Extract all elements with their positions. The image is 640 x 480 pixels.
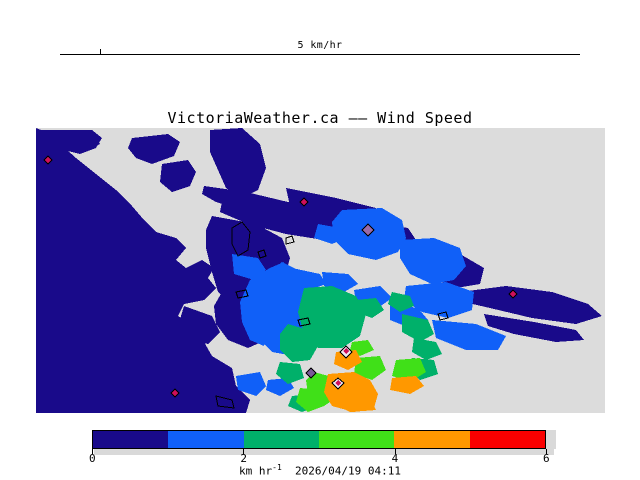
wind-barb-scale-tick <box>100 49 101 55</box>
colorbar-segment-0-1 <box>93 431 168 448</box>
colorbar-segment-5-6 <box>470 431 545 448</box>
wind-barb-scale-line <box>60 54 580 55</box>
colorbar-segment-1-2 <box>168 431 243 448</box>
wind-barb-scale-label: 5 km/hr <box>60 40 580 51</box>
colorbar-segment-3-4 <box>319 431 394 448</box>
wind-speed-map <box>36 128 605 413</box>
colorbar-units-exponent: -1 <box>272 463 282 472</box>
colorbar-segment-4-5 <box>394 431 469 448</box>
wind-speed-map-page: 5 km/hr VictoriaWeather.ca —— Wind Speed <box>0 0 640 480</box>
colorbar <box>92 430 546 449</box>
page-title: VictoriaWeather.ca —— Wind Speed <box>0 109 640 127</box>
colorbar-segment-2-3 <box>244 431 319 448</box>
colorbar-units-text: km hr <box>239 465 272 478</box>
colorbar-units-and-timestamp: km hr-1 2026/04/19 04:11 <box>0 463 640 478</box>
colorbar-timestamp-spacer <box>282 465 295 478</box>
colorbar-overflow-swatch <box>546 430 556 449</box>
wind-barb-scale: 5 km/hr <box>60 40 580 58</box>
colorbar-timestamp: 2026/04/19 04:11 <box>295 465 401 478</box>
